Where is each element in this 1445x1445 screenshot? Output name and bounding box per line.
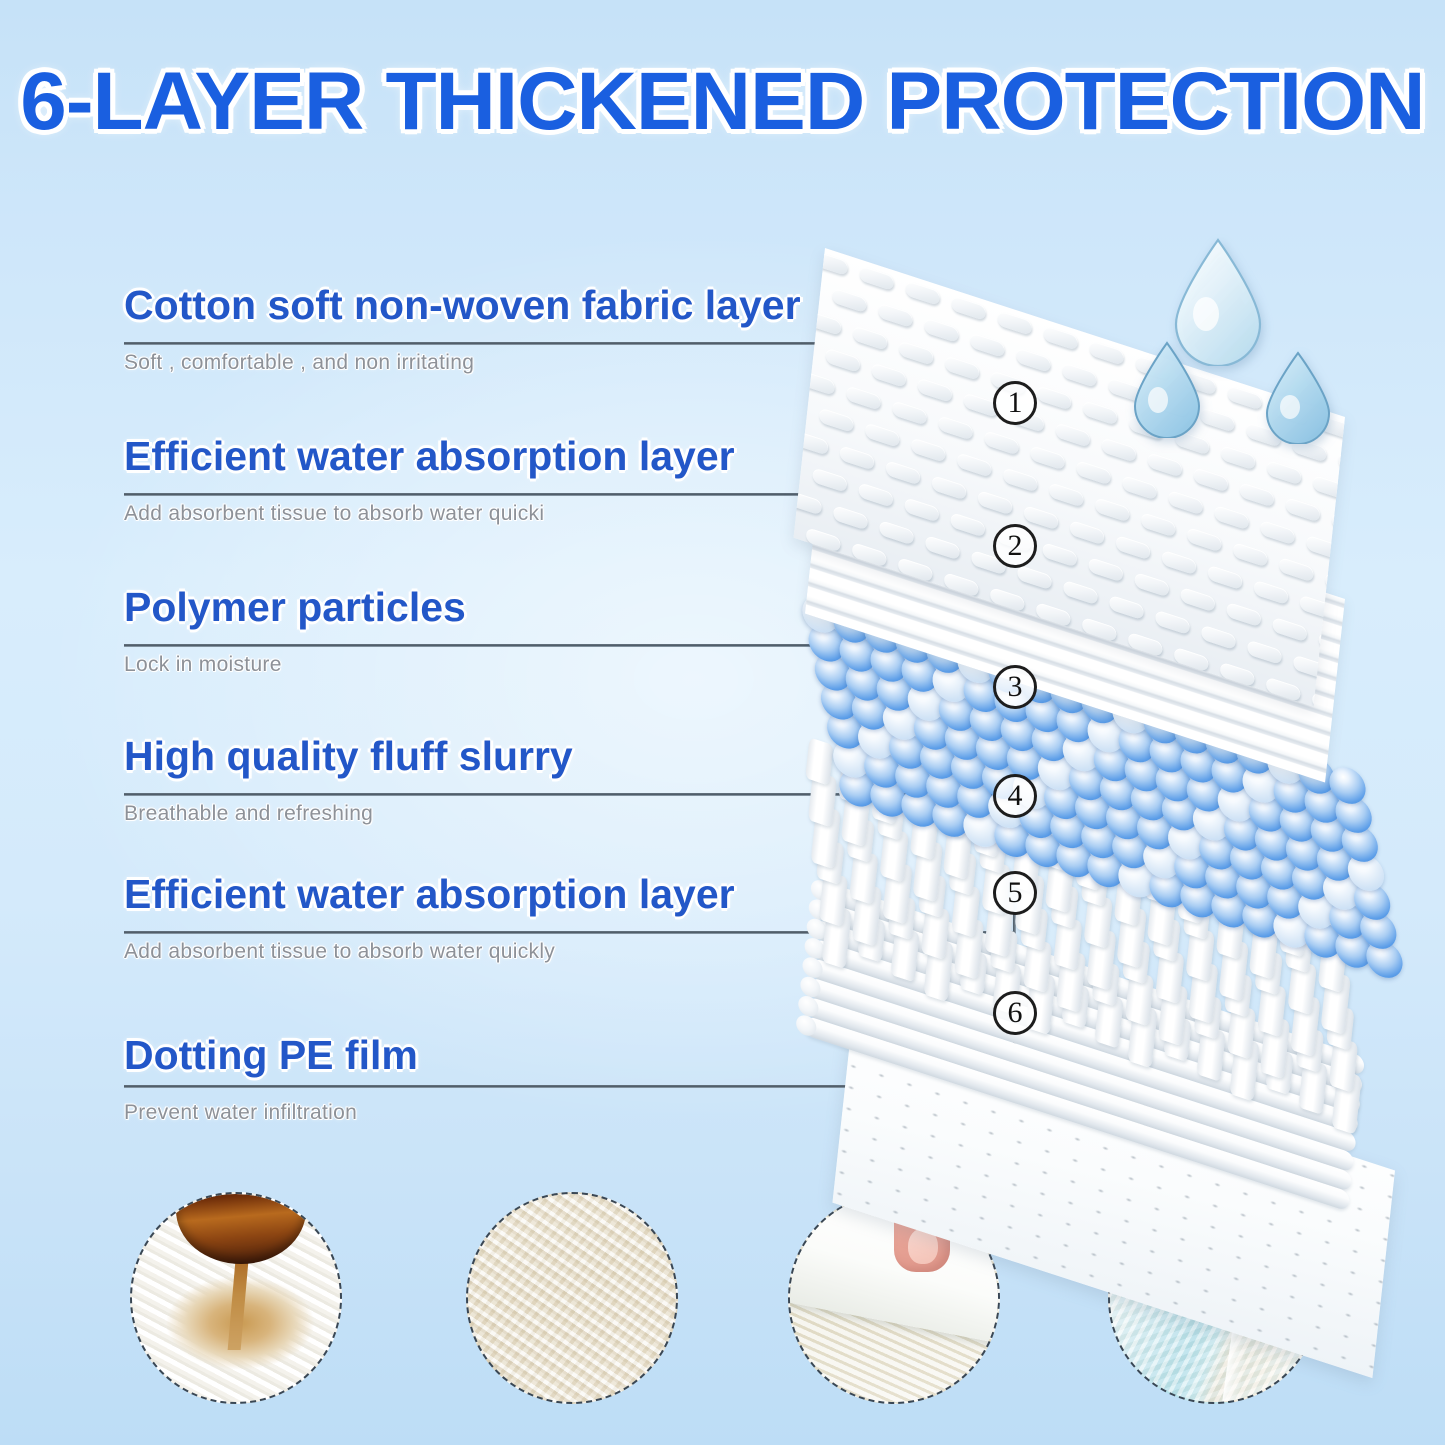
topsheet-emboss-dot	[970, 332, 1006, 358]
topsheet-emboss-dot	[1076, 460, 1112, 486]
topsheet-emboss-dot	[1306, 535, 1342, 561]
topsheet-emboss-dot	[1055, 422, 1091, 448]
topsheet-emboss-dot	[833, 505, 869, 531]
topsheet-emboss-dot	[1069, 520, 1105, 546]
topsheet-emboss-dot	[1042, 542, 1078, 568]
layer-3-subtitle: Lock in moisture	[124, 653, 466, 677]
topsheet-emboss-dot	[1088, 557, 1124, 583]
topsheet-emboss-dot	[1201, 625, 1237, 651]
topsheet-emboss-dot	[1207, 565, 1243, 591]
topsheet-emboss-dot	[1193, 467, 1229, 493]
topsheet-emboss-dot	[839, 445, 875, 471]
topsheet-emboss-dot	[1017, 565, 1053, 591]
topsheet-emboss-dot	[957, 452, 993, 478]
photo-1-content	[132, 1194, 340, 1402]
topsheet-emboss-dot	[1043, 325, 1079, 351]
layer-text-block-3: Polymer particles Lock in moisture	[124, 584, 466, 677]
topsheet-emboss-dot	[925, 535, 961, 561]
topsheet-emboss-dot	[1155, 610, 1191, 636]
topsheet-emboss-dot	[793, 490, 822, 516]
topsheet-emboss-dot	[846, 385, 882, 411]
layer-3-title: Polymer particles	[124, 584, 466, 631]
layer-4-title: High quality fluff slurry	[124, 733, 573, 780]
topsheet-emboss-dot	[793, 430, 828, 456]
layer-1-subtitle: Soft , comfortable , and non irritating	[124, 351, 801, 375]
topsheet-emboss-dot	[1147, 452, 1183, 478]
page-title: 6-LAYER THICKENED PROTECTION	[0, 55, 1445, 149]
topsheet-emboss-dot	[1220, 445, 1256, 471]
water-drop-icon	[1262, 350, 1334, 449]
topsheet-emboss-dot	[1122, 475, 1158, 501]
topsheet-emboss-dot	[984, 430, 1020, 456]
topsheet-emboss-dot	[1187, 527, 1223, 553]
layer-number-badge-1: 1	[993, 381, 1037, 425]
topsheet-emboss-dot	[917, 377, 953, 403]
topsheet-emboss-dot	[1214, 505, 1250, 531]
layer-text-block-5: Efficient water absorption layer Add abs…	[124, 871, 735, 964]
layer-2-title: Efficient water absorption layer	[124, 433, 735, 480]
topsheet-emboss-dot	[1338, 452, 1345, 478]
topsheet-emboss-dot	[1023, 505, 1059, 531]
topsheet-emboss-dot	[1095, 497, 1131, 523]
topsheet-emboss-dot	[1239, 482, 1275, 508]
topsheet-emboss-dot	[1312, 475, 1345, 501]
layer-text-block-1: Cotton soft non-woven fabric layer Soft …	[124, 282, 801, 375]
topsheet-emboss-dot	[977, 490, 1013, 516]
layer-5-subtitle: Add absorbent tissue to absorb water qui…	[124, 940, 735, 964]
topsheet-emboss-dot	[1003, 467, 1039, 493]
topsheet-emboss-dot	[879, 520, 915, 546]
topsheet-emboss-dot	[825, 348, 861, 374]
topsheet-emboss-dot	[911, 437, 947, 463]
photo-2-content	[468, 1194, 676, 1402]
topsheet-emboss-dot	[1180, 587, 1216, 613]
topsheet-emboss-dot	[865, 422, 901, 448]
topsheet-emboss-dot	[800, 370, 836, 396]
topsheet-emboss-dot	[832, 288, 868, 314]
topsheet-emboss-dot	[1141, 512, 1177, 538]
topsheet-emboss-dot	[1036, 385, 1072, 411]
topsheet-emboss-dot	[878, 303, 914, 329]
topsheet-emboss-dot	[1016, 347, 1052, 373]
topsheet-emboss-dot	[1227, 385, 1263, 411]
pouring-liquid-stream	[228, 1250, 250, 1350]
topsheet-emboss-dot	[1089, 340, 1125, 366]
infographic-page: 6-LAYER THICKENED PROTECTION	[0, 0, 1445, 1445]
topsheet-emboss-dot	[859, 265, 895, 291]
topsheet-emboss-dot	[812, 467, 848, 493]
layer-number-badge-3: 3	[993, 665, 1037, 709]
layer-5-title: Efficient water absorption layer	[124, 871, 735, 918]
spoon-with-liquid	[176, 1194, 306, 1264]
fluff-pulp-texture-photo	[466, 1192, 678, 1404]
topsheet-emboss-dot	[819, 407, 855, 433]
topsheet-emboss-dot	[1331, 512, 1345, 538]
topsheet-emboss-dot	[806, 310, 842, 336]
topsheet-emboss-dot	[892, 400, 928, 426]
topsheet-emboss-dot	[997, 310, 1033, 336]
layer-number-badge-2: 2	[993, 524, 1037, 568]
topsheet-emboss-dot	[813, 251, 849, 277]
topsheet-emboss-dot	[1279, 557, 1315, 583]
layer-number-badge-6: 6	[993, 991, 1037, 1035]
topsheet-emboss-dot	[924, 318, 960, 344]
topsheet-emboss-dot	[1109, 595, 1145, 621]
topsheet-emboss-dot	[904, 497, 940, 523]
topsheet-emboss-dot	[938, 415, 974, 441]
topsheet-emboss-dot	[1168, 490, 1204, 516]
topsheet-emboss-dot	[1134, 572, 1170, 598]
layer-number-badge-4: 4	[993, 774, 1037, 818]
topsheet-emboss-dot	[1233, 542, 1269, 568]
topsheet-emboss-dot	[1226, 602, 1262, 628]
layer-1-title: Cotton soft non-woven fabric layer	[124, 282, 801, 329]
layer-6-subtitle: Prevent water infiltration	[124, 1101, 418, 1125]
layer-number-badge-5: 5	[993, 871, 1037, 915]
liquid-absorption-photo	[130, 1192, 342, 1404]
topsheet-emboss-dot	[1030, 445, 1066, 471]
layer-text-block-2: Efficient water absorption layer Add abs…	[124, 433, 735, 526]
topsheet-emboss-dot	[1260, 520, 1296, 546]
page-title-text: 6-LAYER THICKENED PROTECTION	[20, 55, 1424, 149]
topsheet-emboss-dot	[1285, 497, 1321, 523]
topsheet-emboss-dot	[1161, 550, 1197, 576]
topsheet-emboss-dot	[1062, 362, 1098, 388]
topsheet-emboss-dot	[898, 340, 934, 366]
topsheet-emboss-dot	[951, 295, 987, 321]
topsheet-emboss-dot	[1266, 460, 1302, 486]
topsheet-emboss-dot	[852, 325, 888, 351]
topsheet-emboss-dot	[1082, 400, 1118, 426]
topsheet-emboss-dot	[950, 512, 986, 538]
topsheet-emboss-dot	[931, 475, 967, 501]
topsheet-emboss-dot	[885, 460, 921, 486]
topsheet-emboss-dot	[944, 355, 980, 381]
topsheet-emboss-dot	[1253, 580, 1289, 606]
topsheet-emboss-dot	[871, 362, 907, 388]
layer-6-title: Dotting PE film	[124, 1032, 418, 1079]
topsheet-emboss-dot	[1272, 617, 1308, 643]
topsheet-emboss-dot	[1115, 535, 1151, 561]
topsheet-emboss-dot	[905, 280, 941, 306]
layer-4-subtitle: Breathable and refreshing	[124, 802, 573, 826]
topsheet-emboss-dot	[1063, 580, 1099, 606]
layer-text-block-4: High quality fluff slurry Breathable and…	[124, 733, 573, 826]
layer-text-block-6: Dotting PE film Prevent water infiltrati…	[124, 1032, 418, 1125]
water-drop-icon	[1129, 340, 1205, 443]
topsheet-emboss-dot	[1247, 640, 1283, 666]
layer-2-subtitle: Add absorbent tissue to absorb water qui…	[124, 502, 735, 526]
topsheet-emboss-dot	[858, 482, 894, 508]
topsheet-emboss-dot	[1049, 482, 1085, 508]
